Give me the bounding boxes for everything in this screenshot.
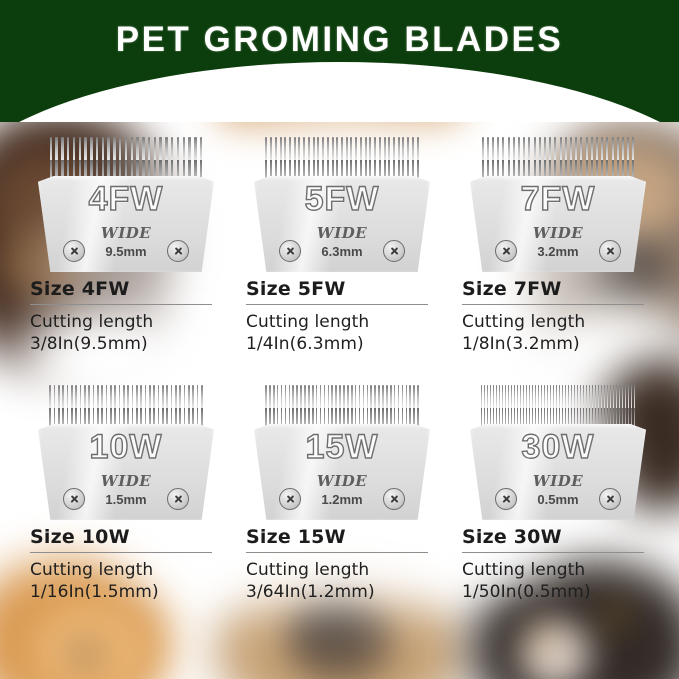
blade-body: 30W WIDE 0.5mm [470,424,646,520]
blade-body: 10W WIDE 1.5mm [38,424,214,520]
infographic-page: PET GROMING BLADES 4FW WIDE 9.5mm [0,0,679,679]
cutting-length-value: 3/64In(1.2mm) [246,581,440,603]
blade-wide-label: WIDE [470,224,646,242]
cutting-length-label: Cutting length [30,311,224,333]
product-card-10w[interactable]: 10W WIDE 1.5mm Size 10W Cutting length 1… [28,370,224,604]
product-size-title: Size 30W [462,526,656,552]
product-size-title: Size 10W [30,526,224,552]
blade-teeth [480,385,636,427]
blade-image-5fw: 5FW WIDE 6.3mm [244,122,440,272]
blade-code-label: 4FW [38,180,214,219]
screw-icon [383,488,405,510]
screw-icon [599,488,621,510]
blade-teeth [264,385,420,427]
blade-image-4fw: 4FW WIDE 9.5mm [28,122,224,272]
cutting-length-value: 1/8In(3.2mm) [462,333,656,355]
blade-image-7fw: 7FW WIDE 3.2mm [460,122,656,272]
blade-code-label: 15W [254,428,430,467]
product-caption: Size 7FW Cutting length 1/8In(3.2mm) [460,272,656,356]
product-caption: Size 4FW Cutting length 3/8In(9.5mm) [28,272,224,356]
blade-code-label: 10W [38,428,214,467]
screw-icon [167,488,189,510]
caption-divider [462,304,644,305]
caption-divider [30,304,212,305]
blade-code-label: 5FW [254,180,430,219]
screw-icon [495,240,517,262]
header-curve [0,62,679,122]
product-card-7fw[interactable]: 7FW WIDE 3.2mm Size 7FW Cutting length 1… [460,122,656,356]
caption-divider [246,552,428,553]
product-caption: Size 5FW Cutting length 1/4In(6.3mm) [244,272,440,356]
blade-teeth [48,137,204,179]
blade-body: 7FW WIDE 3.2mm [470,176,646,272]
blade-body: 4FW WIDE 9.5mm [38,176,214,272]
cutting-length-label: Cutting length [462,559,656,581]
cutting-length-label: Cutting length [30,559,224,581]
product-card-30w[interactable]: 30W WIDE 0.5mm Size 30W Cutting length 1… [460,370,656,604]
blade-teeth [480,137,636,179]
blade-teeth [48,385,204,427]
blade-body: 15W WIDE 1.2mm [254,424,430,520]
product-caption: Size 15W Cutting length 3/64In(1.2mm) [244,520,440,604]
cutting-length-label: Cutting length [246,559,440,581]
screw-icon [599,240,621,262]
cutting-length-label: Cutting length [246,311,440,333]
product-grid: 4FW WIDE 9.5mm Size 4FW Cutting length 3… [0,122,679,604]
blade-wide-label: WIDE [254,472,430,490]
blade-wide-label: WIDE [38,472,214,490]
screw-icon [279,240,301,262]
screw-icon [63,488,85,510]
product-card-15w[interactable]: 15W WIDE 1.2mm Size 15W Cutting length 3… [244,370,440,604]
product-caption: Size 10W Cutting length 1/16In(1.5mm) [28,520,224,604]
blade-wide-label: WIDE [254,224,430,242]
blade-teeth [264,137,420,179]
cutting-length-value: 1/50In(0.5mm) [462,581,656,603]
blade-code-label: 7FW [470,180,646,219]
cutting-length-label: Cutting length [462,311,656,333]
caption-divider [462,552,644,553]
blade-wide-label: WIDE [470,472,646,490]
caption-divider [30,552,212,553]
product-row-1: 4FW WIDE 9.5mm Size 4FW Cutting length 3… [0,122,679,356]
blade-image-30w: 30W WIDE 0.5mm [460,370,656,520]
product-caption: Size 30W Cutting length 1/50In(0.5mm) [460,520,656,604]
page-title: PET GROMING BLADES [0,20,679,60]
blade-body: 5FW WIDE 6.3mm [254,176,430,272]
product-card-4fw[interactable]: 4FW WIDE 9.5mm Size 4FW Cutting length 3… [28,122,224,356]
caption-divider [246,304,428,305]
header-banner [0,0,679,122]
cutting-length-value: 1/16In(1.5mm) [30,581,224,603]
blade-code-label: 30W [470,428,646,467]
product-size-title: Size 4FW [30,278,224,304]
product-size-title: Size 15W [246,526,440,552]
product-card-5fw[interactable]: 5FW WIDE 6.3mm Size 5FW Cutting length 1… [244,122,440,356]
blade-image-15w: 15W WIDE 1.2mm [244,370,440,520]
blade-image-10w: 10W WIDE 1.5mm [28,370,224,520]
screw-icon [495,488,517,510]
screw-icon [279,488,301,510]
screw-icon [63,240,85,262]
cutting-length-value: 3/8In(9.5mm) [30,333,224,355]
product-row-2: 10W WIDE 1.5mm Size 10W Cutting length 1… [0,370,679,604]
screw-icon [383,240,405,262]
screw-icon [167,240,189,262]
product-size-title: Size 5FW [246,278,440,304]
blade-wide-label: WIDE [38,224,214,242]
cutting-length-value: 1/4In(6.3mm) [246,333,440,355]
product-size-title: Size 7FW [462,278,656,304]
